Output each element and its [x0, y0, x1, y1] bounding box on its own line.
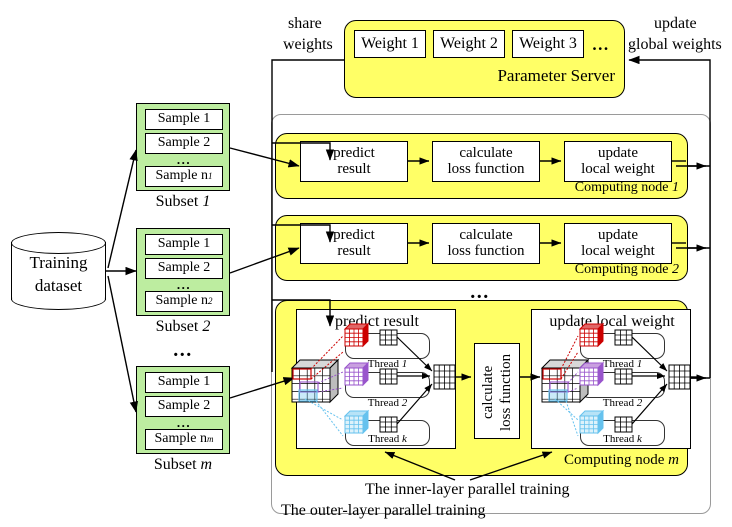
subset-1[interactable]: Sample 1 Sample 2 ... Sample n1 — [136, 103, 230, 191]
computing-nodes-ellipsis: ... — [440, 283, 520, 301]
subset-m-sample-last: Sample nm — [145, 429, 223, 450]
predict-thread-2-row — [345, 372, 430, 398]
computing-node-1-caption-index: 1 — [672, 180, 679, 195]
node-m-stage-loss-line1: calculate — [480, 349, 498, 435]
node-2-stage-predict-line1: predict — [333, 228, 375, 244]
subset-m[interactable]: Sample 1 Sample 2 ... Sample nm — [136, 366, 230, 454]
node-2-stage-update[interactable]: update local weight — [564, 223, 672, 264]
node-2-stage-update-line2: local weight — [581, 244, 655, 260]
subset-m-caption: Subset m — [136, 455, 230, 475]
training-dataset-label-line1: Training — [11, 252, 106, 274]
node-m-stage-loss[interactable]: calculate loss function — [474, 343, 520, 439]
subset-m-sample-last-prefix: Sample n — [155, 432, 208, 447]
computing-node-1-caption: Computing node 1 — [575, 181, 679, 196]
diagram-canvas: Weight 1 Weight 2 Weight 3 ... Parameter… — [0, 0, 732, 527]
subset-1-caption-index: 1 — [202, 194, 210, 211]
computing-node-2-caption-index: 2 — [672, 262, 679, 277]
node-2-stage-predict-line2: result — [333, 244, 375, 260]
subset-1-sample-last-prefix: Sample n — [156, 169, 209, 184]
subset-m-caption-index: m — [201, 457, 213, 474]
weight-box-3[interactable]: Weight 3 — [512, 30, 584, 58]
subset-1-ellipsis: ... — [145, 154, 223, 166]
predict-thread-1-label-prefix: Thread — [368, 359, 399, 371]
node-1-stage-update-line1: update — [581, 146, 655, 162]
update-thread-1-label: Thread 1 — [580, 358, 665, 372]
subset-2-caption-prefix: Subset — [156, 319, 199, 336]
update-global-weights-label-line2: global weights — [628, 37, 722, 54]
subset-1-caption-prefix: Subset — [156, 194, 199, 211]
computing-node-m-caption: Computing node m — [564, 453, 679, 469]
subset-1-sample-last-sub: 1 — [208, 172, 213, 181]
subset-2-caption: Subset 2 — [136, 317, 230, 337]
computing-node-2-caption: Computing node 2 — [575, 263, 679, 278]
computing-node-m-caption-prefix: Computing node — [564, 452, 664, 468]
node-1-stage-update-line2: local weight — [581, 162, 655, 178]
node-2-stage-loss-line2: loss function — [447, 244, 524, 260]
parameter-server-label: Parameter Server — [497, 67, 615, 85]
node-1-stage-predict-line1: predict — [333, 146, 375, 162]
node-1-stage-predict-line2: result — [333, 162, 375, 178]
node-1-stage-loss-line1: calculate — [447, 146, 524, 162]
subset-2-sample-1: Sample 1 — [145, 234, 223, 255]
update-thread-1-label-index: 1 — [637, 359, 643, 371]
predict-result-panel-title: predict result — [297, 312, 457, 332]
update-thread-2-row — [580, 372, 665, 398]
update-local-weight-panel: update local weight Thread 1 Thread 2 ..… — [531, 309, 691, 449]
node-2-stage-update-line1: update — [581, 228, 655, 244]
subset-1-caption: Subset 1 — [136, 192, 230, 212]
share-weights-label-line1: share — [288, 16, 322, 33]
node-1-stage-loss-line2: loss function — [447, 162, 524, 178]
subset-2-sample-2: Sample 2 — [145, 258, 223, 279]
subset-2-sample-last: Sample n2 — [145, 291, 223, 312]
parameter-server[interactable]: Weight 1 Weight 2 Weight 3 ... Parameter… — [344, 20, 625, 98]
subset-m-sample-2: Sample 2 — [145, 396, 223, 417]
subset-2-caption-index: 2 — [202, 319, 210, 336]
training-dataset-label-line2: dataset — [11, 275, 106, 297]
subset-ellipsis: ... — [136, 340, 230, 360]
share-weights-label-line2: weights — [283, 37, 333, 54]
computing-node-1-caption-prefix: Computing node — [575, 180, 669, 195]
node-1-stage-predict[interactable]: predict result — [300, 141, 408, 182]
update-thread-1-label-prefix: Thread — [603, 359, 634, 371]
weight-box-2[interactable]: Weight 2 — [433, 30, 505, 58]
update-thread-1-row — [580, 333, 665, 359]
computing-node-m-caption-index: m — [668, 452, 679, 468]
predict-result-panel: predict result Thread 1 Thread 2 ... Thr… — [296, 309, 456, 449]
predict-thread-1-label: Thread 1 — [345, 358, 430, 372]
computing-node-2-caption-prefix: Computing node — [575, 262, 669, 277]
computing-node-1[interactable]: predict result calculate loss function u… — [275, 133, 688, 199]
subset-1-sample-last: Sample n1 — [145, 166, 223, 187]
subset-m-ellipsis: ... — [145, 417, 223, 429]
node-2-stage-predict[interactable]: predict result — [300, 223, 408, 264]
weights-ellipsis: ... — [588, 33, 614, 57]
predict-thread-1-label-index: 1 — [402, 359, 408, 371]
update-thread-k-label-index: k — [637, 434, 642, 446]
update-thread-k-label: Thread k — [580, 433, 665, 447]
subset-m-sample-1: Sample 1 — [145, 372, 223, 393]
node-1-stage-loss[interactable]: calculate loss function — [432, 141, 540, 182]
predict-thread-k-label-index: k — [402, 434, 407, 446]
predict-thread-1-row — [345, 333, 430, 359]
inner-layer-caption: The inner-layer parallel training — [365, 482, 569, 499]
node-m-stage-loss-line2: loss function — [498, 349, 516, 435]
update-global-weights-label-line1: update — [654, 16, 697, 33]
subset-1-sample-1: Sample 1 — [145, 109, 223, 130]
weight-box-1[interactable]: Weight 1 — [354, 30, 426, 58]
subset-m-caption-prefix: Subset — [154, 457, 197, 474]
node-2-stage-loss-line1: calculate — [447, 228, 524, 244]
predict-thread-k-label-prefix: Thread — [368, 434, 399, 446]
update-thread-k-label-prefix: Thread — [603, 434, 634, 446]
subset-1-sample-2: Sample 2 — [145, 133, 223, 154]
computing-node-2[interactable]: predict result calculate loss function u… — [275, 215, 688, 281]
node-1-stage-update[interactable]: update local weight — [564, 141, 672, 182]
computing-node-m[interactable]: predict result Thread 1 Thread 2 ... Thr… — [275, 300, 688, 476]
training-dataset-cylinder: Training dataset — [11, 232, 106, 310]
update-local-weight-panel-title: update local weight — [532, 312, 692, 332]
subset-2[interactable]: Sample 1 Sample 2 ... Sample n2 — [136, 228, 230, 316]
subset-2-sample-last-sub: 2 — [208, 297, 213, 306]
predict-thread-k-label: Thread k — [345, 433, 430, 447]
subset-m-sample-last-sub: m — [207, 435, 214, 444]
subset-2-ellipsis: ... — [145, 279, 223, 291]
subset-2-sample-last-prefix: Sample n — [156, 294, 209, 309]
outer-layer-caption: The outer-layer parallel training — [281, 503, 485, 520]
node-2-stage-loss[interactable]: calculate loss function — [432, 223, 540, 264]
